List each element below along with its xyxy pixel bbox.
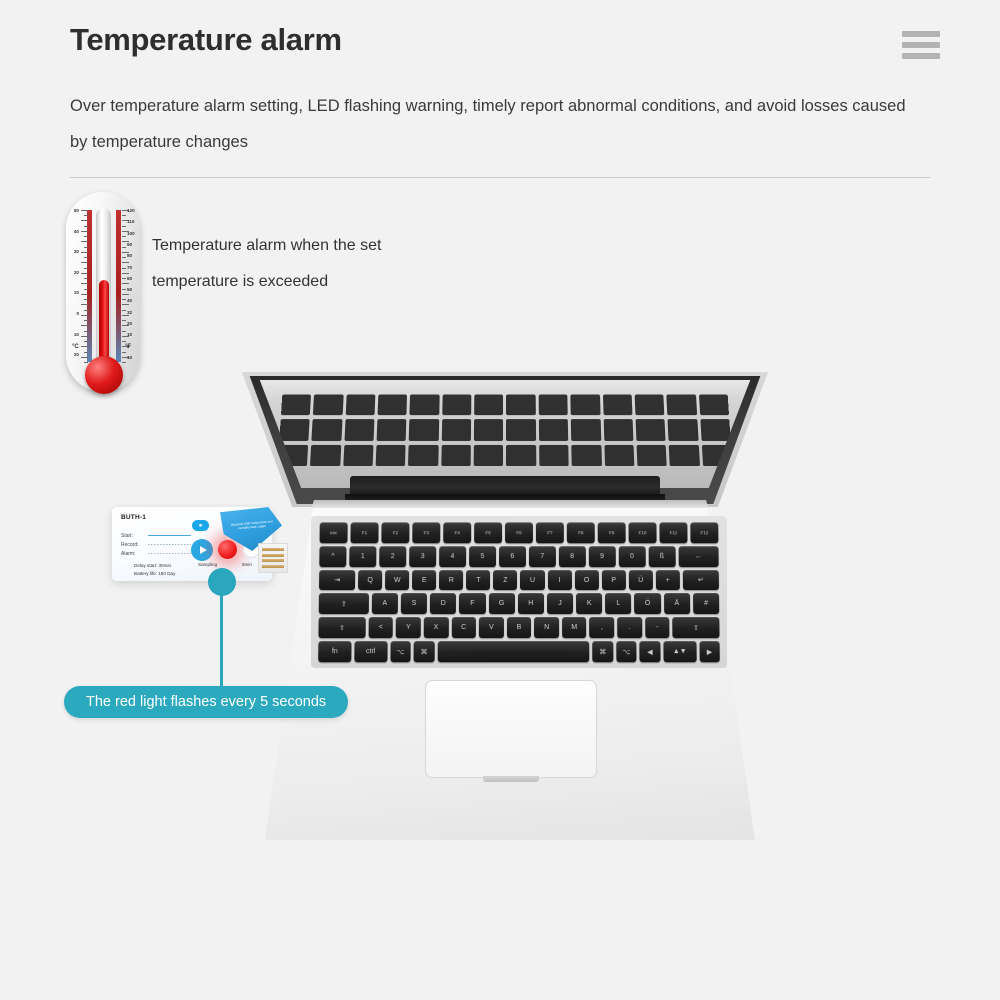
- key-L[interactable]: L: [605, 593, 631, 614]
- device-sampling-value: 6min: [242, 562, 252, 567]
- key-J[interactable]: J: [547, 593, 573, 614]
- reflection-key: [378, 395, 408, 416]
- key-.[interactable]: .: [617, 617, 642, 638]
- key-F9[interactable]: F9: [598, 522, 626, 543]
- key-F5[interactable]: F5: [474, 522, 502, 543]
- celsius-tick-50: 50: [68, 208, 79, 213]
- key-C[interactable]: C: [451, 617, 476, 638]
- fahrenheit-tick-70: 70: [127, 265, 139, 270]
- page-header: Temperature alarm Over temperature alarm…: [0, 0, 1000, 180]
- tick: [84, 226, 88, 227]
- key-▶[interactable]: ▶: [699, 641, 720, 662]
- key-5[interactable]: 5: [469, 546, 496, 567]
- laptop-screen-reflection: [225, 380, 785, 488]
- celsius-tick-30: 30: [68, 249, 79, 254]
- tick: [84, 299, 88, 300]
- key-W[interactable]: W: [385, 570, 409, 591]
- reflection-row-0: [281, 395, 729, 416]
- reflection-key: [409, 419, 439, 440]
- tick: [122, 247, 126, 248]
- key-⇪[interactable]: ⇪: [319, 593, 369, 614]
- device-sampling-label: Sampling: [198, 562, 217, 567]
- hamburger-bar-3: [902, 53, 940, 59]
- device-status-rows: Start: Record: Alarm:: [121, 531, 191, 558]
- key-U[interactable]: U: [520, 570, 544, 591]
- tick: [122, 262, 129, 263]
- key--[interactable]: -: [645, 617, 670, 638]
- device-row-record: Record:: [121, 540, 191, 549]
- key-F1[interactable]: F1: [350, 522, 378, 543]
- screen-keyboard-reflection: [278, 395, 733, 467]
- tick: [84, 341, 88, 342]
- tick: [84, 247, 88, 248]
- tick: [84, 289, 88, 290]
- keyboard-row-2: ⇥QWERTZUIOPÜ+↵: [319, 570, 719, 591]
- keyboard-row-1: ^1234567890ß←: [319, 546, 718, 567]
- key-F2[interactable]: F2: [381, 522, 409, 543]
- tick: [122, 299, 126, 300]
- reflection-key: [668, 419, 698, 440]
- key-2[interactable]: 2: [379, 546, 406, 567]
- device-row-alarm-label: Alarm:: [121, 551, 145, 557]
- key-0[interactable]: 0: [618, 546, 645, 567]
- device-row-alarm: Alarm:: [121, 549, 191, 558]
- keyboard-row-0: escF1F2F3F4F5F6F7F8F9F10F11F12: [320, 522, 719, 543]
- fahrenheit-tick-10: 10: [127, 332, 139, 337]
- tick: [84, 257, 88, 258]
- celsius-tick-10: 10: [68, 290, 79, 295]
- reflection-key: [636, 445, 666, 467]
- reflection-key: [506, 419, 535, 440]
- hamburger-icon[interactable]: [902, 31, 940, 59]
- tick: [122, 236, 126, 237]
- device-row-record-label: Record:: [121, 542, 145, 548]
- tick: [84, 310, 88, 311]
- reflection-key: [506, 395, 535, 416]
- device-row-start: Start:: [121, 531, 191, 540]
- usb-connector-icon: [258, 543, 288, 573]
- key-A[interactable]: A: [372, 593, 398, 614]
- key-<[interactable]: <: [368, 617, 393, 638]
- thermometer-unit-celsius: °C: [72, 344, 79, 350]
- tick: [122, 315, 129, 316]
- thermometer-bulb: [85, 356, 123, 394]
- key-H[interactable]: H: [518, 593, 544, 614]
- key-#[interactable]: #: [693, 593, 719, 614]
- fahrenheit-tick-50: 50: [127, 287, 139, 292]
- hamburger-bar-1: [902, 31, 940, 37]
- header-divider: [70, 177, 930, 178]
- tick: [122, 226, 126, 227]
- tick: [84, 215, 88, 216]
- celsius-tick-40: 40: [68, 229, 79, 234]
- device-row-record-line: [148, 544, 191, 545]
- key-E[interactable]: E: [412, 570, 436, 591]
- tick: [122, 304, 129, 305]
- reflection-key: [539, 445, 569, 467]
- reflection-key: [571, 419, 601, 440]
- laptop-base-edge: [265, 500, 755, 508]
- reflection-key: [344, 419, 374, 440]
- play-icon[interactable]: [191, 539, 213, 561]
- key-ß[interactable]: ß: [648, 546, 675, 567]
- tick: [84, 236, 88, 237]
- reflection-key: [441, 445, 471, 467]
- key-1[interactable]: 1: [349, 546, 376, 567]
- tick: [81, 283, 88, 284]
- key-⇧[interactable]: ⇧: [672, 617, 719, 638]
- reflection-row-1: [279, 419, 730, 440]
- tick: [84, 278, 88, 279]
- key-fn[interactable]: fn: [318, 641, 351, 662]
- key-G[interactable]: G: [488, 593, 514, 614]
- tick: [122, 273, 129, 274]
- fahrenheit-tick-90: 90: [127, 242, 139, 247]
- reflection-key: [345, 395, 375, 416]
- tick: [81, 262, 88, 263]
- key-V[interactable]: V: [479, 617, 504, 638]
- tick: [122, 215, 126, 216]
- key-,[interactable]: ,: [590, 617, 615, 638]
- laptop-keyboard[interactable]: escF1F2F3F4F5F6F7F8F9F10F11F12^123456789…: [318, 522, 720, 662]
- key-^[interactable]: ^: [319, 546, 346, 567]
- reflection-key: [312, 419, 342, 440]
- key-Z[interactable]: Z: [493, 570, 517, 591]
- keyboard-row-5: fnctrl⌥⌘⌘⌥◀▲▼▶: [318, 641, 720, 662]
- tick: [122, 268, 126, 269]
- fahrenheit-tick-100: 100: [127, 231, 139, 236]
- tick: [84, 362, 88, 363]
- page-root: Temperature alarm Over temperature alarm…: [0, 0, 1000, 1000]
- reflection-key: [310, 445, 341, 467]
- key-space[interactable]: [437, 641, 589, 662]
- tick: [81, 315, 88, 316]
- tick: [81, 231, 88, 232]
- reflection-key: [669, 445, 700, 467]
- tick: [81, 294, 88, 295]
- reflection-key: [442, 419, 472, 440]
- tick: [122, 278, 126, 279]
- device-row-start-label: Start:: [121, 533, 145, 539]
- key-6[interactable]: 6: [499, 546, 526, 567]
- usb-contact-3: [262, 559, 284, 562]
- key-8[interactable]: 8: [559, 546, 586, 567]
- reflection-key: [539, 419, 569, 440]
- key-Q[interactable]: Q: [358, 570, 382, 591]
- key-←[interactable]: ←: [678, 546, 719, 567]
- tick: [81, 220, 88, 221]
- key-O[interactable]: O: [575, 570, 599, 591]
- tick: [122, 257, 126, 258]
- key-K[interactable]: K: [576, 593, 602, 614]
- usb-contact-2: [262, 554, 284, 557]
- reflection-key: [603, 395, 633, 416]
- key-◀[interactable]: ◀: [640, 641, 661, 662]
- key-T[interactable]: T: [466, 570, 490, 591]
- device-model-label: BUTH-1: [121, 514, 146, 521]
- key-↵[interactable]: ↵: [683, 570, 719, 591]
- key-F7[interactable]: F7: [536, 522, 564, 543]
- tick: [81, 336, 88, 337]
- keyboard-row-3: ⇪ASDFGHJKLÖÄ#: [319, 593, 720, 614]
- key-3[interactable]: 3: [409, 546, 436, 567]
- fahrenheit-tick-110: 110: [127, 219, 139, 224]
- reflection-key: [538, 395, 567, 416]
- key-esc[interactable]: esc: [320, 522, 348, 543]
- reflection-key: [571, 395, 601, 416]
- usb-contact-4: [262, 565, 284, 568]
- tick: [81, 241, 88, 242]
- reflection-key: [410, 395, 440, 416]
- device-row-start-line: [148, 535, 191, 536]
- tick: [122, 310, 126, 311]
- tick: [81, 304, 88, 305]
- bluetooth-icon[interactable]: ⚭: [192, 520, 209, 531]
- key-M[interactable]: M: [562, 617, 587, 638]
- celsius-tick-20: 20: [68, 270, 79, 275]
- page-subtitle: Over temperature alarm setting, LED flas…: [70, 88, 910, 160]
- celsius-tick-0: 0: [68, 311, 79, 316]
- reflection-key: [376, 445, 406, 467]
- reflection-key: [699, 395, 729, 416]
- key-Y[interactable]: Y: [396, 617, 421, 638]
- reflection-key: [636, 419, 666, 440]
- key-X[interactable]: X: [424, 617, 449, 638]
- tick: [122, 320, 126, 321]
- reflection-key: [667, 395, 697, 416]
- tick: [81, 346, 88, 347]
- reflection-key: [604, 445, 634, 467]
- key-▲▼[interactable]: ▲▼: [663, 641, 696, 662]
- key-9[interactable]: 9: [589, 546, 616, 567]
- hamburger-bar-2: [902, 42, 940, 48]
- reflection-key: [279, 419, 310, 440]
- reflection-key: [474, 395, 503, 416]
- key-⇧[interactable]: ⇧: [318, 617, 365, 638]
- celsius-tick-10: 10: [68, 332, 79, 337]
- key-F8[interactable]: F8: [567, 522, 595, 543]
- key-F12[interactable]: F12: [690, 522, 718, 543]
- key-⌥[interactable]: ⌥: [390, 641, 411, 662]
- tick: [122, 331, 126, 332]
- reflection-key: [442, 395, 471, 416]
- key-Ä[interactable]: Ä: [664, 593, 690, 614]
- key-+[interactable]: +: [656, 570, 680, 591]
- tick: [81, 273, 88, 274]
- device-battery-life: Battery life: 180 Day: [134, 570, 175, 578]
- tick: [84, 320, 88, 321]
- tick: [122, 283, 129, 284]
- thermometer-caption: Temperature alarm when the set temperatu…: [152, 228, 472, 300]
- fahrenheit-tick-120: 120: [127, 208, 139, 213]
- thermometer-ticks-celsius: [79, 210, 88, 362]
- reflection-key: [474, 445, 504, 467]
- key-N[interactable]: N: [534, 617, 559, 638]
- key-ctrl[interactable]: ctrl: [354, 641, 387, 662]
- callout-connector-line: [220, 592, 223, 687]
- key-P[interactable]: P: [602, 570, 626, 591]
- tick: [84, 331, 88, 332]
- callout-label: The red light flashes every 5 seconds: [64, 686, 348, 718]
- key-Ö[interactable]: Ö: [634, 593, 660, 614]
- key-Ü[interactable]: Ü: [629, 570, 653, 591]
- key-7[interactable]: 7: [529, 546, 556, 567]
- thermometer-graphic: °C °F 5040302010010201201101009080706050…: [66, 192, 150, 408]
- reflection-key: [603, 419, 633, 440]
- reflection-key: [313, 395, 343, 416]
- reflection-key: [700, 419, 731, 440]
- fahrenheit-tick-40: 40: [127, 298, 139, 303]
- key-D[interactable]: D: [430, 593, 456, 614]
- reflection-key: [474, 419, 503, 440]
- key-F[interactable]: F: [459, 593, 485, 614]
- key-F10[interactable]: F10: [629, 522, 657, 543]
- device-footer-info: Delay start: 30min Battery life: 180 Day: [134, 562, 175, 578]
- key-I[interactable]: I: [547, 570, 571, 591]
- device-delay-start: Delay start: 30min: [134, 562, 175, 570]
- key-F11[interactable]: F11: [659, 522, 687, 543]
- tick: [84, 268, 88, 269]
- reflection-key: [571, 445, 601, 467]
- tick: [81, 210, 88, 211]
- tick: [122, 362, 126, 363]
- fahrenheit-tick-80: 80: [127, 253, 139, 258]
- fahrenheit-tick-20: 20: [127, 321, 139, 326]
- fahrenheit-tick-10: 10: [127, 355, 139, 360]
- tick: [122, 341, 126, 342]
- tick: [122, 289, 126, 290]
- red-led-icon: [218, 540, 237, 559]
- key-⌘[interactable]: ⌘: [414, 641, 435, 662]
- reflection-key: [506, 445, 536, 467]
- key-F3[interactable]: F3: [412, 522, 440, 543]
- laptop-lid-notch: [483, 776, 539, 782]
- keyboard-row-4: ⇧<YXCVBNM,.-⇧: [318, 617, 719, 638]
- key-R[interactable]: R: [439, 570, 463, 591]
- key-⌘[interactable]: ⌘: [592, 641, 613, 662]
- reflection-key: [635, 395, 665, 416]
- thermometer-scale-bar-right: [116, 210, 121, 362]
- data-logger-device: BUTH-1 Start: Record: Alarm: Delay start…: [112, 507, 290, 589]
- fahrenheit-tick-0: 0: [127, 344, 139, 349]
- key-S[interactable]: S: [401, 593, 427, 614]
- device-row-alarm-line: [148, 553, 191, 554]
- reflection-key: [281, 395, 311, 416]
- tick: [81, 357, 88, 358]
- reflection-key: [343, 445, 373, 467]
- tick: [84, 352, 88, 353]
- celsius-tick-20: 20: [68, 352, 79, 357]
- key-⇥[interactable]: ⇥: [319, 570, 355, 591]
- reflection-key: [408, 445, 438, 467]
- key-F4[interactable]: F4: [443, 522, 471, 543]
- fahrenheit-tick-60: 60: [127, 276, 139, 281]
- tick: [122, 294, 129, 295]
- reflection-row-2: [278, 445, 733, 467]
- key-B[interactable]: B: [507, 617, 532, 638]
- tick: [81, 325, 88, 326]
- tick: [122, 352, 126, 353]
- laptop-trackpad[interactable]: [425, 680, 597, 778]
- key-4[interactable]: 4: [439, 546, 466, 567]
- laptop-illustration: escF1F2F3F4F5F6F7F8F9F10F11F12^123456789…: [225, 372, 785, 842]
- key-⌥[interactable]: ⌥: [616, 641, 637, 662]
- fahrenheit-tick-32: 32: [127, 310, 139, 315]
- usb-contact-1: [262, 548, 284, 551]
- page-title: Temperature alarm: [70, 22, 342, 58]
- reflection-key: [377, 419, 407, 440]
- key-F6[interactable]: F6: [505, 522, 533, 543]
- tick: [81, 252, 88, 253]
